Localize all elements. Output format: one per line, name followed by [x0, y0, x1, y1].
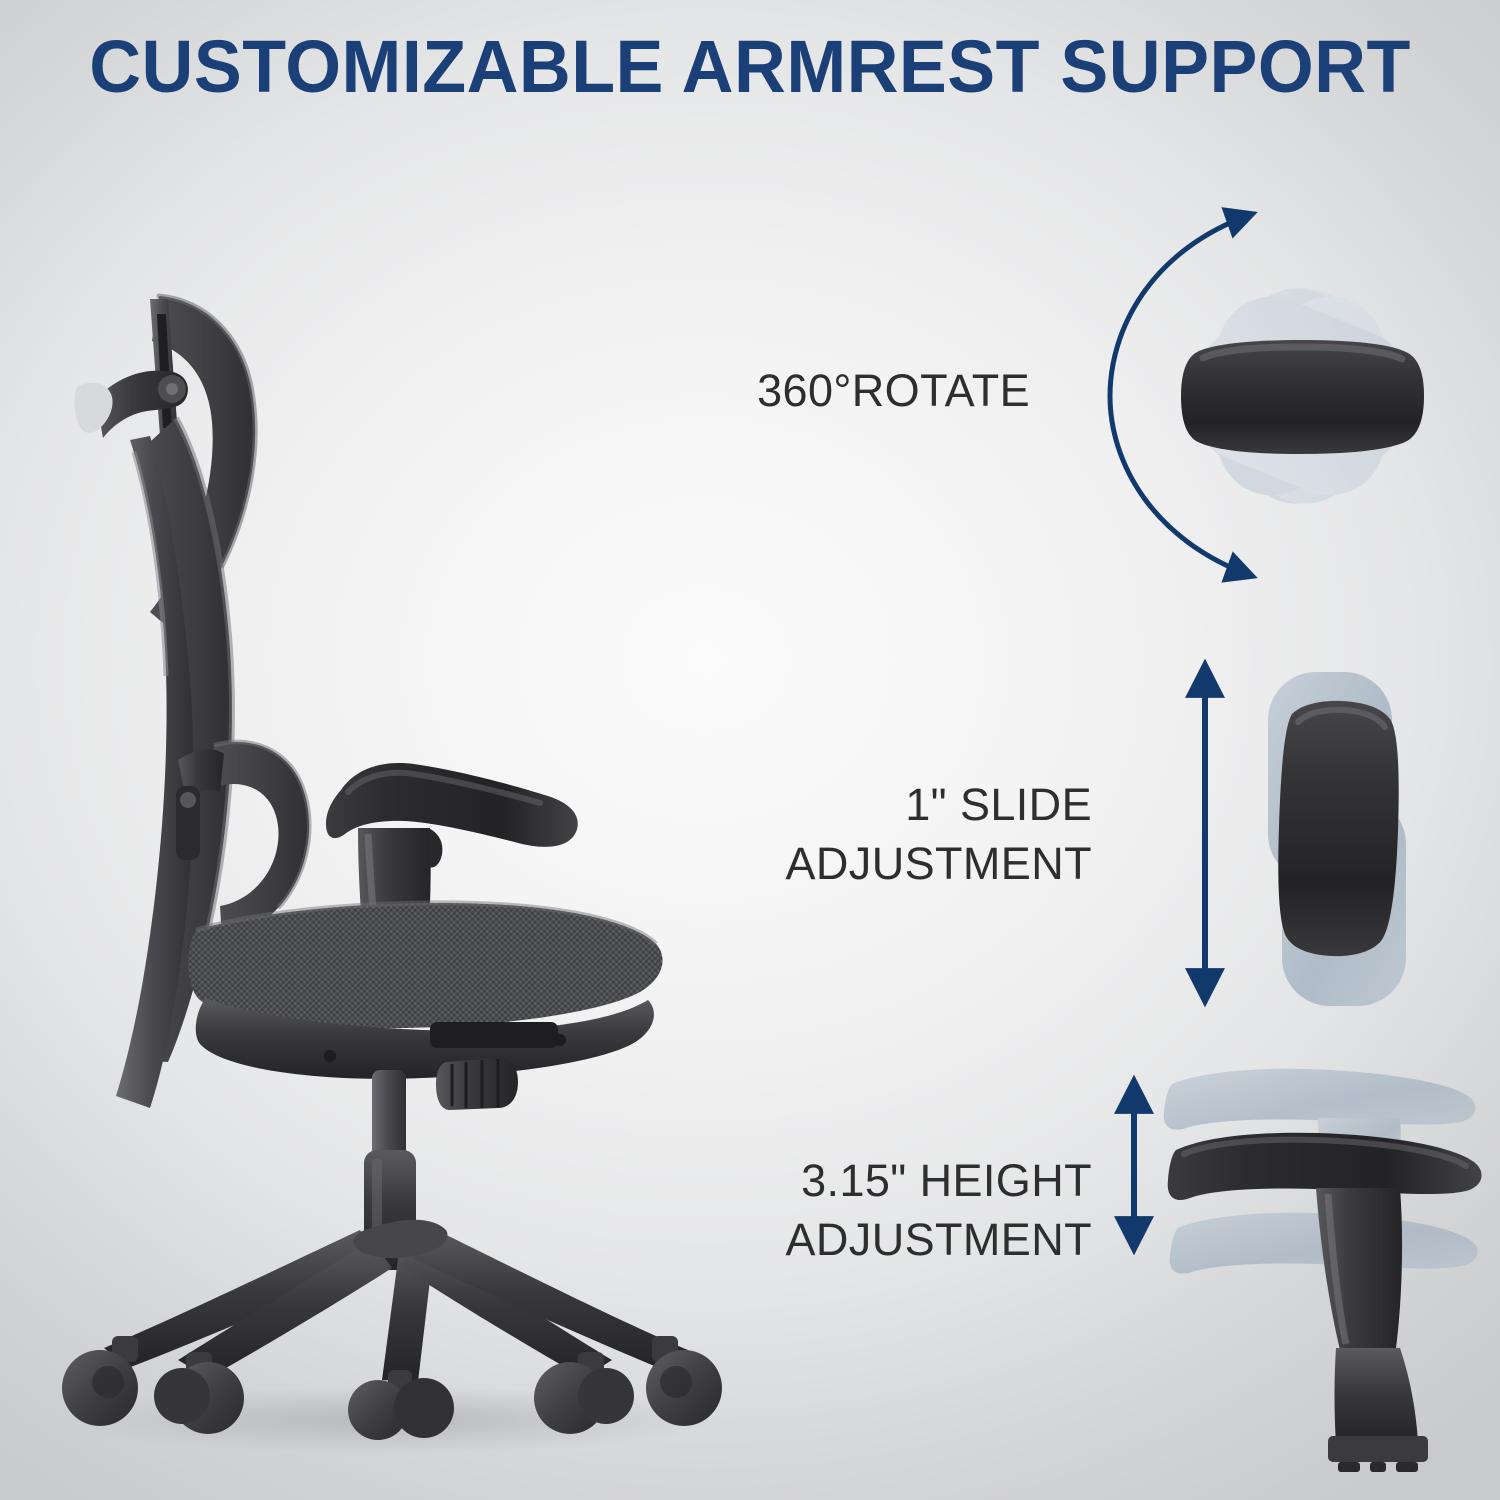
feature-label-height: 3.15" HEIGHT ADJUSTMENT	[786, 1152, 1093, 1269]
chair-base	[62, 1220, 722, 1440]
seat-bolt-right	[554, 1034, 566, 1046]
height-post-highlight	[1328, 1194, 1346, 1344]
feature-label-slide-line-1: 1" SLIDE	[786, 776, 1093, 835]
cylinder-upper	[372, 1070, 406, 1166]
headrest-cushion-highlight	[159, 296, 255, 566]
backrest-mesh-panel	[132, 418, 232, 1062]
base-leg-center	[382, 1244, 434, 1382]
rotate-armrest-pad	[1181, 340, 1424, 454]
height-armrest-highlight	[1184, 1140, 1466, 1166]
tilt-tension-knob[interactable]	[436, 1058, 518, 1110]
caster-wheel-right-back	[578, 1368, 634, 1424]
height-mount-plate	[1328, 1436, 1428, 1462]
feature-label-height-line-2: ADJUSTMENT	[786, 1211, 1093, 1270]
height-ghost-lower	[1170, 1213, 1478, 1274]
lumbar-cushion-highlight	[214, 742, 309, 908]
height-ghost-lower-pad	[1170, 1213, 1478, 1274]
headrest-rail-outer	[150, 299, 178, 436]
base-leg-far-right	[412, 1228, 688, 1370]
caster-hub-far-left	[92, 1366, 124, 1398]
headrest-pivot-hub	[158, 375, 186, 403]
headrest-cushion	[150, 296, 255, 634]
backrest-frame-rail	[116, 436, 193, 1108]
caster-right	[534, 1352, 634, 1434]
headrest-rail-inner	[157, 314, 172, 428]
base-leg-right	[400, 1238, 612, 1378]
caster-wheel-far-left	[62, 1350, 138, 1426]
page-title: CUSTOMIZABLE ARMREST SUPPORT	[23, 24, 1478, 109]
feature-label-slide: 1" SLIDE ADJUSTMENT	[786, 776, 1093, 893]
caster-stem-left	[186, 1352, 212, 1378]
rotate-arc-arrow	[1110, 214, 1252, 576]
rotate-ghost-group	[1173, 266, 1429, 525]
chair-floor-shadow	[60, 1386, 720, 1454]
rotate-ghost-1	[1173, 266, 1429, 525]
backrest-mesh-edge	[176, 418, 232, 930]
caster-wheel-center-right	[394, 1378, 454, 1438]
height-ghost-upper-post	[1318, 1118, 1401, 1176]
base-hub	[353, 1220, 447, 1258]
backrest-frame-highlight	[134, 452, 166, 676]
caster-stem-right	[578, 1352, 604, 1378]
knob-ridges	[452, 1059, 498, 1108]
rotate-pad-highlight	[1203, 347, 1402, 359]
armrest-post	[358, 828, 431, 1012]
rotate-pad-body	[1181, 340, 1424, 454]
cylinder-lower	[364, 1150, 416, 1270]
chair-seat	[188, 903, 662, 1079]
height-mount-bracket	[1335, 1348, 1419, 1444]
seat-pan	[196, 998, 654, 1079]
slide-pad-highlight	[1298, 710, 1385, 727]
armrest-post-highlight	[368, 834, 382, 1006]
caster-far-right	[646, 1336, 722, 1426]
caster-stem-far-right	[652, 1336, 678, 1362]
rotate-ghost-3	[1178, 280, 1423, 511]
headrest-tip	[74, 383, 112, 433]
feature-label-rotate-line-1: 360°ROTATE	[757, 362, 1030, 421]
caster-hub-far-right	[660, 1366, 692, 1398]
height-ghost-upper	[1164, 1069, 1476, 1176]
lumbar-cushion	[210, 742, 309, 938]
diagram-height	[1134, 1069, 1482, 1472]
seat-cushion	[188, 903, 662, 1028]
slide-pad-body	[1278, 701, 1398, 956]
rotate-ghost-4	[1178, 280, 1423, 511]
headrest-pivot-screw	[166, 383, 178, 395]
caster-wheel-left-back	[154, 1368, 210, 1424]
headrest-pivot-arm	[96, 371, 188, 438]
caster-stem-far-left	[112, 1336, 138, 1362]
seat-mechanism-plate	[430, 1022, 558, 1048]
base-leg-left	[178, 1240, 392, 1378]
lumbar-pivot	[180, 792, 196, 808]
lumbar-support	[176, 742, 309, 938]
knob-body[interactable]	[436, 1058, 518, 1110]
caster-stem-center	[388, 1370, 412, 1392]
height-armrest-pad	[1168, 1133, 1482, 1200]
diagram-slide	[1205, 666, 1406, 1006]
chair-headrest	[74, 296, 255, 634]
infographic-canvas: CUSTOMIZABLE ARMREST SUPPORT 360°ROTATE …	[0, 0, 1500, 1500]
height-mount-slot-left	[1338, 1462, 1360, 1472]
caster-left	[154, 1352, 244, 1434]
armrest-pad	[326, 763, 578, 847]
seat-bolt-left	[324, 1050, 336, 1062]
armrest-height-button[interactable]	[428, 828, 442, 868]
feature-label-slide-line-2: ADJUSTMENT	[786, 835, 1093, 894]
lumbar-slider-bracket	[176, 786, 200, 860]
chair-backrest	[116, 418, 309, 1108]
feature-label-rotate: 360°ROTATE	[757, 362, 1030, 421]
cylinder-highlight	[372, 1158, 382, 1258]
armrest-pad-highlight	[348, 773, 540, 803]
slide-ghost-upper	[1268, 672, 1392, 882]
height-mount-slot-mid	[1370, 1462, 1386, 1472]
feature-label-height-line-1: 3.15" HEIGHT	[786, 1152, 1093, 1211]
diagram-rotate	[1110, 214, 1429, 576]
caster-wheel-far-right	[646, 1350, 722, 1426]
height-mount-slot-right	[1396, 1462, 1418, 1472]
illustration-stage	[0, 0, 1500, 1500]
caster-far-left	[62, 1336, 138, 1426]
chair-armrest	[326, 763, 578, 1012]
slide-ghost-lower	[1282, 796, 1406, 1006]
office-chair-illustration	[60, 296, 722, 1454]
caster-wheel-right	[534, 1362, 606, 1434]
height-ghost-upper-pad	[1164, 1069, 1476, 1130]
gas-lift-cylinder	[364, 1070, 416, 1270]
seat-cushion-highlight	[196, 903, 656, 944]
caster-wheel-left	[172, 1362, 244, 1434]
lumbar-arm	[178, 749, 224, 798]
base-leg-far-left	[104, 1230, 380, 1368]
height-armrest-post	[1316, 1188, 1402, 1350]
rotate-ghost-2	[1173, 266, 1429, 525]
caster-center	[348, 1370, 454, 1440]
caster-wheel-center-left	[348, 1380, 408, 1440]
height-armrest	[1168, 1133, 1482, 1472]
slide-armrest-pad	[1278, 701, 1398, 956]
